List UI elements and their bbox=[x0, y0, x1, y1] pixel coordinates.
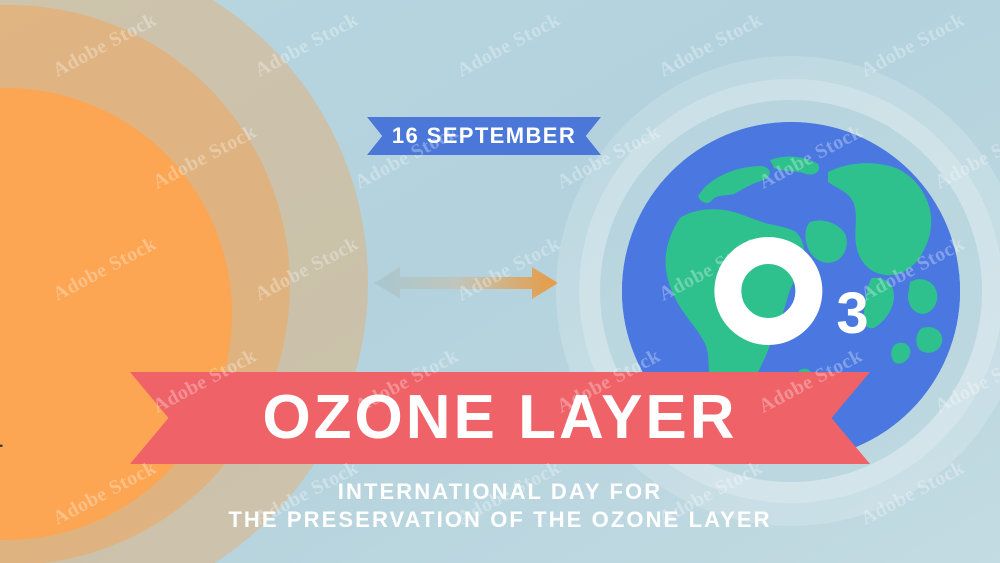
subtitle-block: INTERNATIONAL DAY FOR THE PRESERVATION O… bbox=[0, 478, 1000, 533]
subtitle-line-2: THE PRESERVATION OF THE OZONE LAYER bbox=[0, 506, 1000, 534]
watermark-text: Adobe Stock bbox=[49, 233, 160, 307]
watermark-text: Adobe Stock bbox=[251, 233, 362, 307]
radiation-arrow bbox=[374, 262, 558, 304]
o3-letter-o bbox=[714, 237, 822, 345]
o3-subscript-3: 3 bbox=[836, 285, 867, 343]
title-ribbon: OZONE LAYER bbox=[130, 372, 870, 464]
date-ribbon-label: 16 SEPTEMBER bbox=[392, 123, 576, 149]
sun-core bbox=[0, 88, 232, 540]
page-title: OZONE LAYER bbox=[262, 387, 737, 449]
watermark-text: Adobe Stock bbox=[49, 9, 160, 83]
ozone-molecule-label: 3 bbox=[714, 237, 867, 345]
watermark-text: Adobe Stock bbox=[149, 121, 260, 195]
date-ribbon: 16 SEPTEMBER bbox=[367, 117, 601, 155]
watermark-text: Adobe Stock bbox=[251, 9, 362, 83]
watermark-text: Adobe Stock bbox=[453, 9, 564, 83]
subtitle-line-1: INTERNATIONAL DAY FOR bbox=[0, 478, 1000, 506]
ozone-day-poster: 3 16 SEPTEMBER OZONE LAYER INTERNATIONAL… bbox=[0, 0, 1000, 563]
stock-credit-label: Adobe Stock | #1654438292 bbox=[0, 336, 4, 555]
